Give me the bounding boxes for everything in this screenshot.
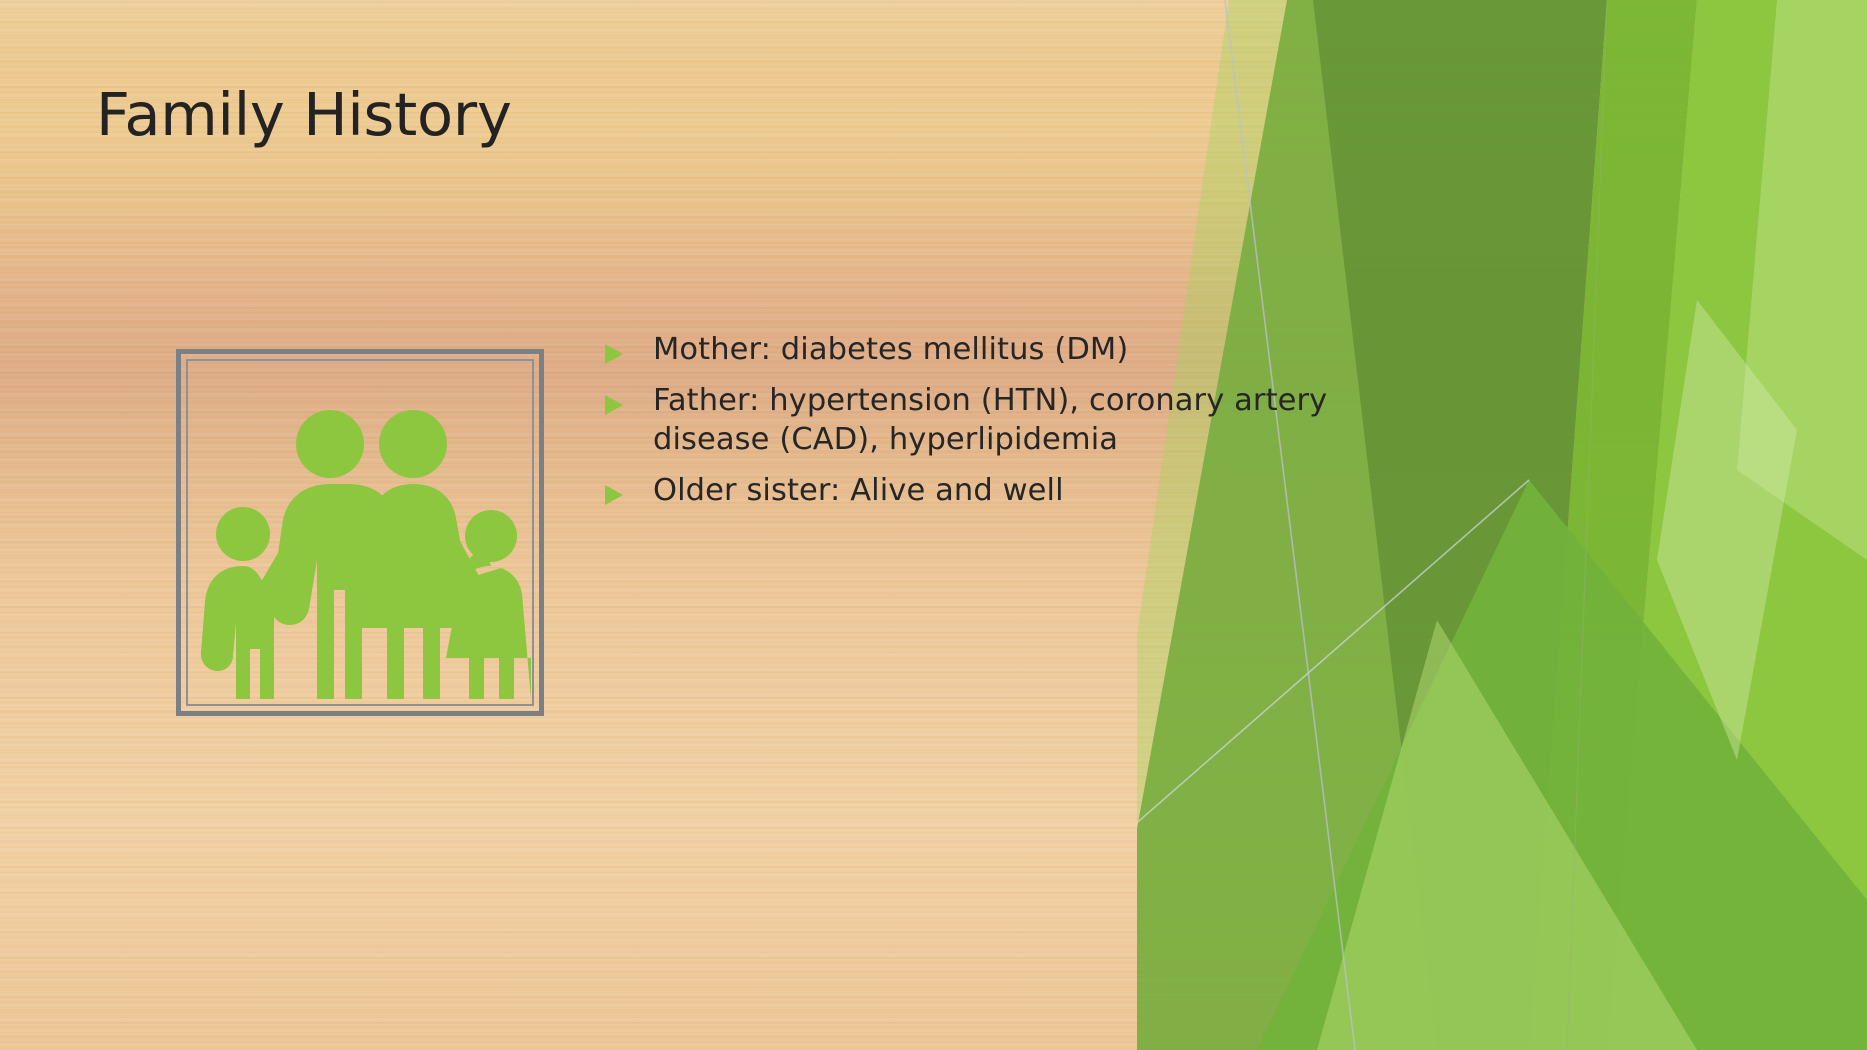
- page-title: Family History: [96, 82, 512, 148]
- list-item-label: Father: hypertension (HTN), coronary art…: [653, 381, 1393, 459]
- triangle-bullet-icon: [603, 342, 625, 366]
- triangle-bullet-icon: [603, 393, 625, 417]
- family-icon: [199, 376, 531, 699]
- list-item: Mother: diabetes mellitus (DM): [603, 330, 1393, 369]
- list-item: Older sister: Alive and well: [603, 471, 1393, 510]
- list-item: Father: hypertension (HTN), coronary art…: [603, 381, 1393, 459]
- list-item-label: Mother: diabetes mellitus (DM): [653, 330, 1393, 369]
- bullet-list: Mother: diabetes mellitus (DM) Father: h…: [603, 330, 1393, 522]
- triangle-bullet-icon: [603, 483, 625, 507]
- green-facet-decoration: [1137, 0, 1867, 1050]
- slide-canvas: Family History: [0, 0, 1867, 1050]
- list-item-label: Older sister: Alive and well: [653, 471, 1393, 510]
- picture-frame: [176, 349, 544, 716]
